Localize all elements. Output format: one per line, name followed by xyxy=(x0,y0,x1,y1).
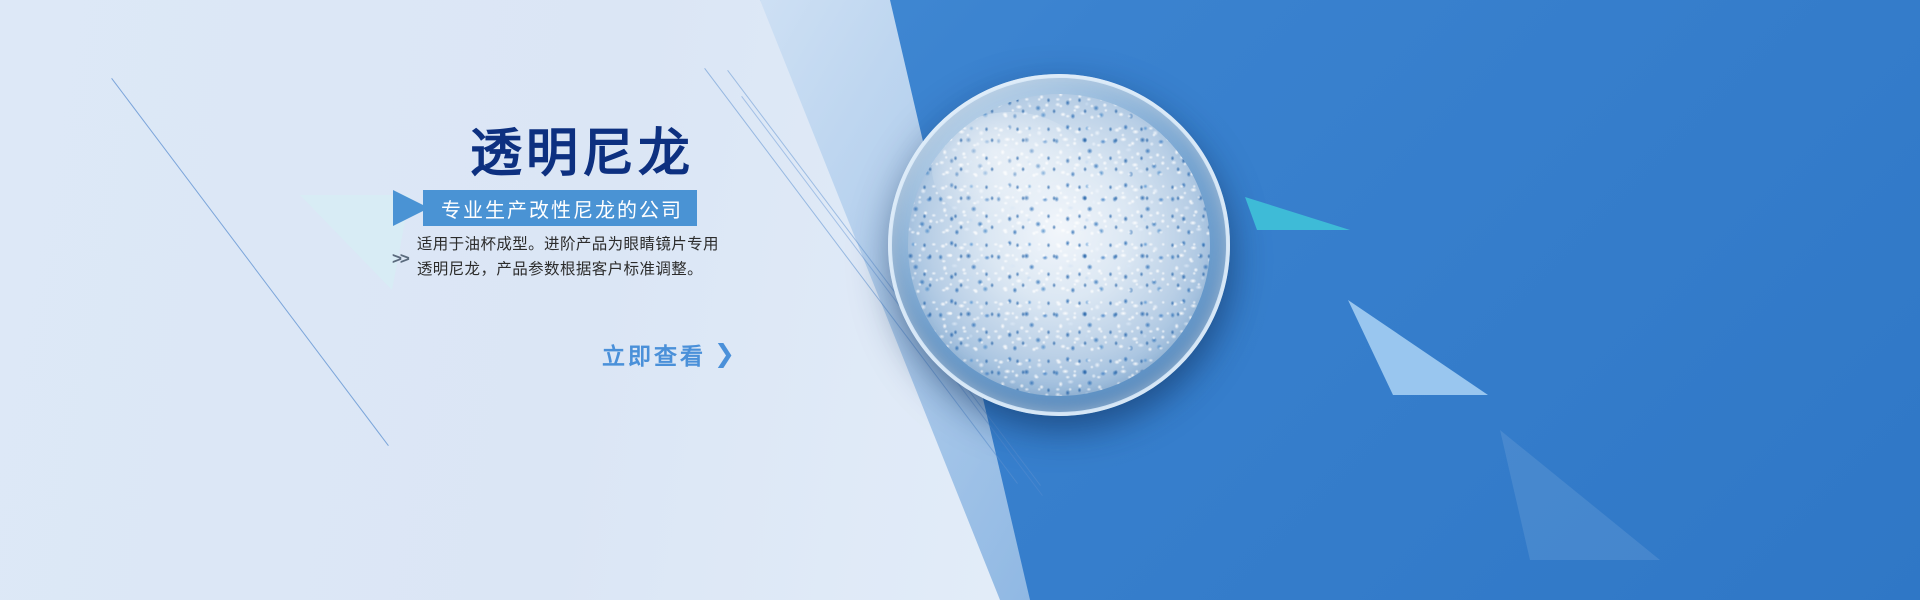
banner-title: 透明尼龙 xyxy=(470,128,694,180)
view-now-label: 立即查看 xyxy=(602,337,706,371)
description-line-2: 透明尼龙，产品参数根据客户标准调整。 xyxy=(417,257,719,282)
description-text: 适用于油杯成型。进阶产品为眼睛镜片专用 透明尼龙，产品参数根据客户标准调整。 xyxy=(417,232,719,282)
ribbon-label: 专业生产改性尼龙的公司 xyxy=(423,190,697,226)
chevron-right-icon: ❯ xyxy=(714,342,738,367)
description-line-1: 适用于油杯成型。进阶产品为眼睛镜片专用 xyxy=(417,232,719,257)
petri-dish-rim xyxy=(888,74,1230,416)
view-now-button[interactable]: 立即查看 ❯ xyxy=(602,337,738,371)
promo-banner: 透明尼龙 专业生产改性尼龙的公司 >> 适用于油杯成型。进阶产品为眼睛镜片专用 … xyxy=(0,0,1920,600)
banner-content: 透明尼龙 专业生产改性尼龙的公司 >> 适用于油杯成型。进阶产品为眼睛镜片专用 … xyxy=(0,0,800,600)
product-petri-dish xyxy=(888,74,1230,416)
banner-description: >> 适用于油杯成型。进阶产品为眼睛镜片专用 透明尼龙，产品参数根据客户标准调整… xyxy=(392,232,719,282)
double-chevron-icon: >> xyxy=(392,248,408,267)
